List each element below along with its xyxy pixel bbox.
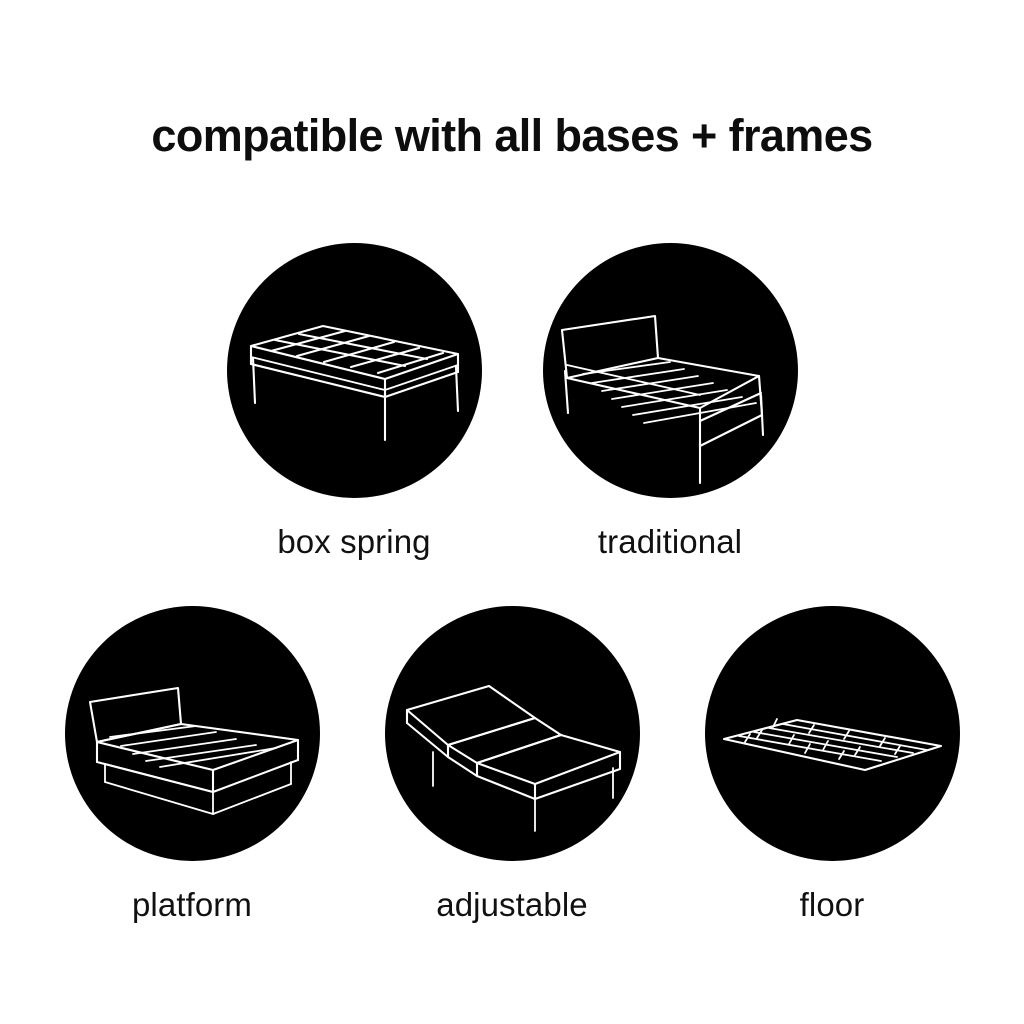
compatibility-item-floor[interactable]: floor [705,606,960,923]
icon-row-bottom: platform [0,606,1024,923]
box-spring-icon [227,243,482,498]
compatibility-label-traditional: traditional [598,524,742,560]
icon-row-top: box spring [0,243,1024,560]
compatibility-item-traditional[interactable]: traditional [543,243,798,560]
compatibility-label-floor: floor [800,887,865,923]
compatibility-item-adjustable[interactable]: adjustable [385,606,640,923]
page-title: compatible with all bases + frames [0,112,1024,159]
adjustable-base-icon [385,606,640,861]
compatibility-label-box-spring: box spring [277,524,430,560]
compatibility-item-box-spring[interactable]: box spring [227,243,482,560]
traditional-bed-frame-icon [543,243,798,498]
compatibility-label-platform: platform [132,887,252,923]
platform-bed-icon [65,606,320,861]
compatibility-label-adjustable: adjustable [436,887,587,923]
compatibility-item-platform[interactable]: platform [65,606,320,923]
compatibility-graphic: compatible with all bases + frames [0,0,1024,1024]
floor-slats-icon [705,606,960,861]
